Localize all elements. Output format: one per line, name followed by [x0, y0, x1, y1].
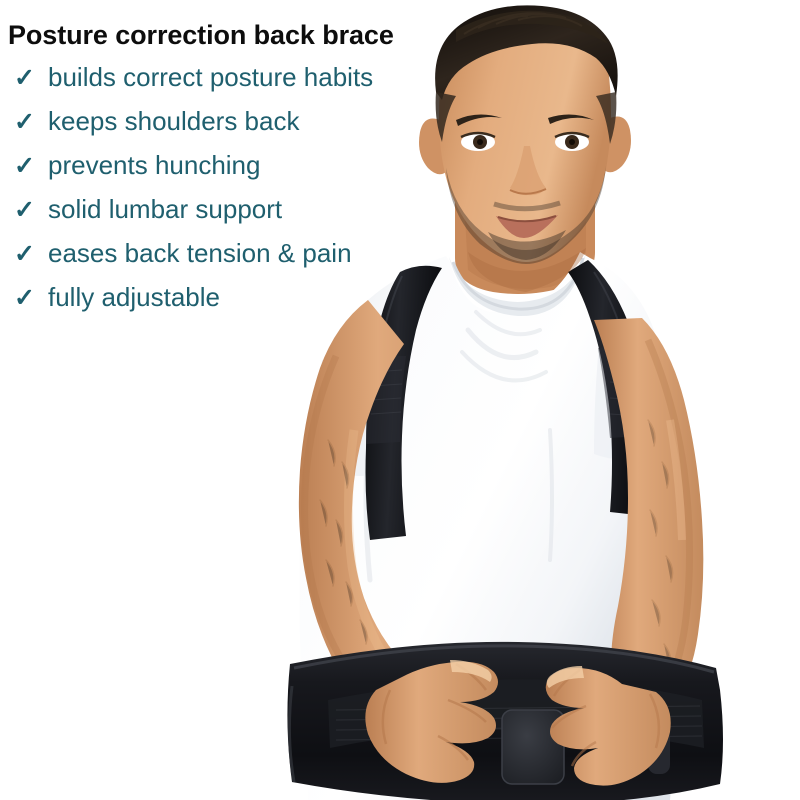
benefit-item: ✓ prevents hunching [14, 150, 373, 194]
check-icon: ✓ [14, 154, 36, 179]
benefit-item: ✓ solid lumbar support [14, 194, 373, 238]
benefit-item: ✓ eases back tension & pain [14, 238, 373, 282]
benefit-list: ✓ builds correct posture habits ✓ keeps … [14, 62, 373, 326]
check-icon: ✓ [14, 286, 36, 311]
product-marketing-image: Posture correction back brace ✓ builds c… [0, 0, 800, 800]
benefit-label: eases back tension & pain [48, 238, 352, 269]
check-icon: ✓ [14, 198, 36, 223]
benefit-label: solid lumbar support [48, 194, 282, 225]
benefit-item: ✓ keeps shoulders back [14, 106, 373, 150]
benefit-label: prevents hunching [48, 150, 260, 181]
benefit-label: keeps shoulders back [48, 106, 299, 137]
benefit-label: fully adjustable [48, 282, 220, 313]
benefit-label: builds correct posture habits [48, 62, 373, 93]
check-icon: ✓ [14, 110, 36, 135]
benefit-item: ✓ builds correct posture habits [14, 62, 373, 106]
page-title: Posture correction back brace [8, 20, 394, 51]
check-icon: ✓ [14, 242, 36, 267]
check-icon: ✓ [14, 66, 36, 91]
benefit-item: ✓ fully adjustable [14, 282, 373, 326]
